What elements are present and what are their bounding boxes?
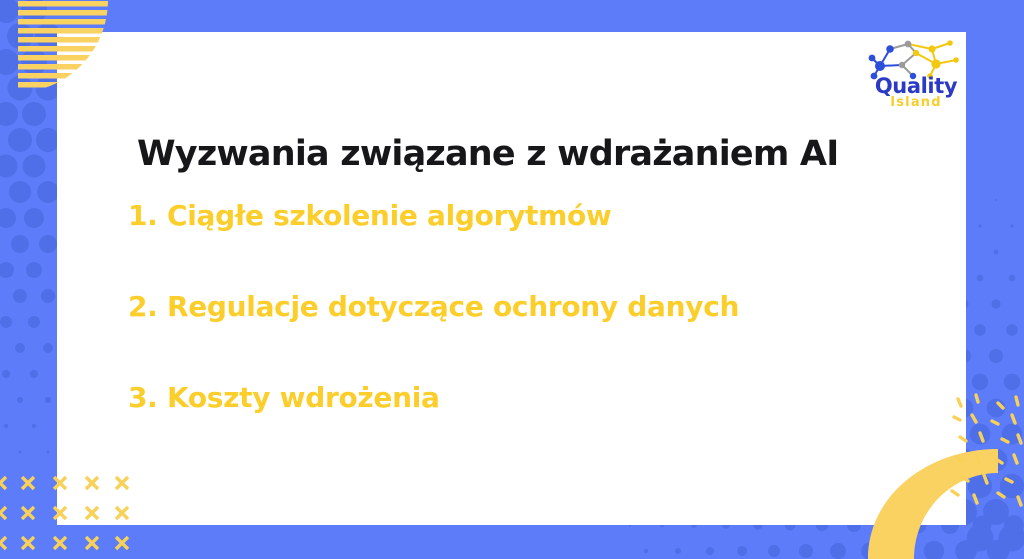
page-title: Wyzwania związane z wdrażaniem AI: [137, 131, 897, 177]
logo-word-island: Island: [864, 96, 968, 110]
halftone-dots-left: [0, 0, 60, 559]
list-item: 1. Ciągłe szkolenie algorytmów: [128, 198, 908, 234]
list-item: 2. Regulacje dotyczące ochrony danych: [128, 289, 908, 325]
challenge-list: 1. Ciągłe szkolenie algorytmów 2. Regula…: [128, 198, 908, 416]
list-item: 3. Koszty wdrożenia: [128, 380, 908, 416]
brand-logo[interactable]: Quality Island: [864, 38, 968, 110]
logo-word-quality: Quality: [864, 76, 968, 96]
slide-canvas: Quality Island Wyzwania związane z wdraż…: [0, 0, 1024, 559]
